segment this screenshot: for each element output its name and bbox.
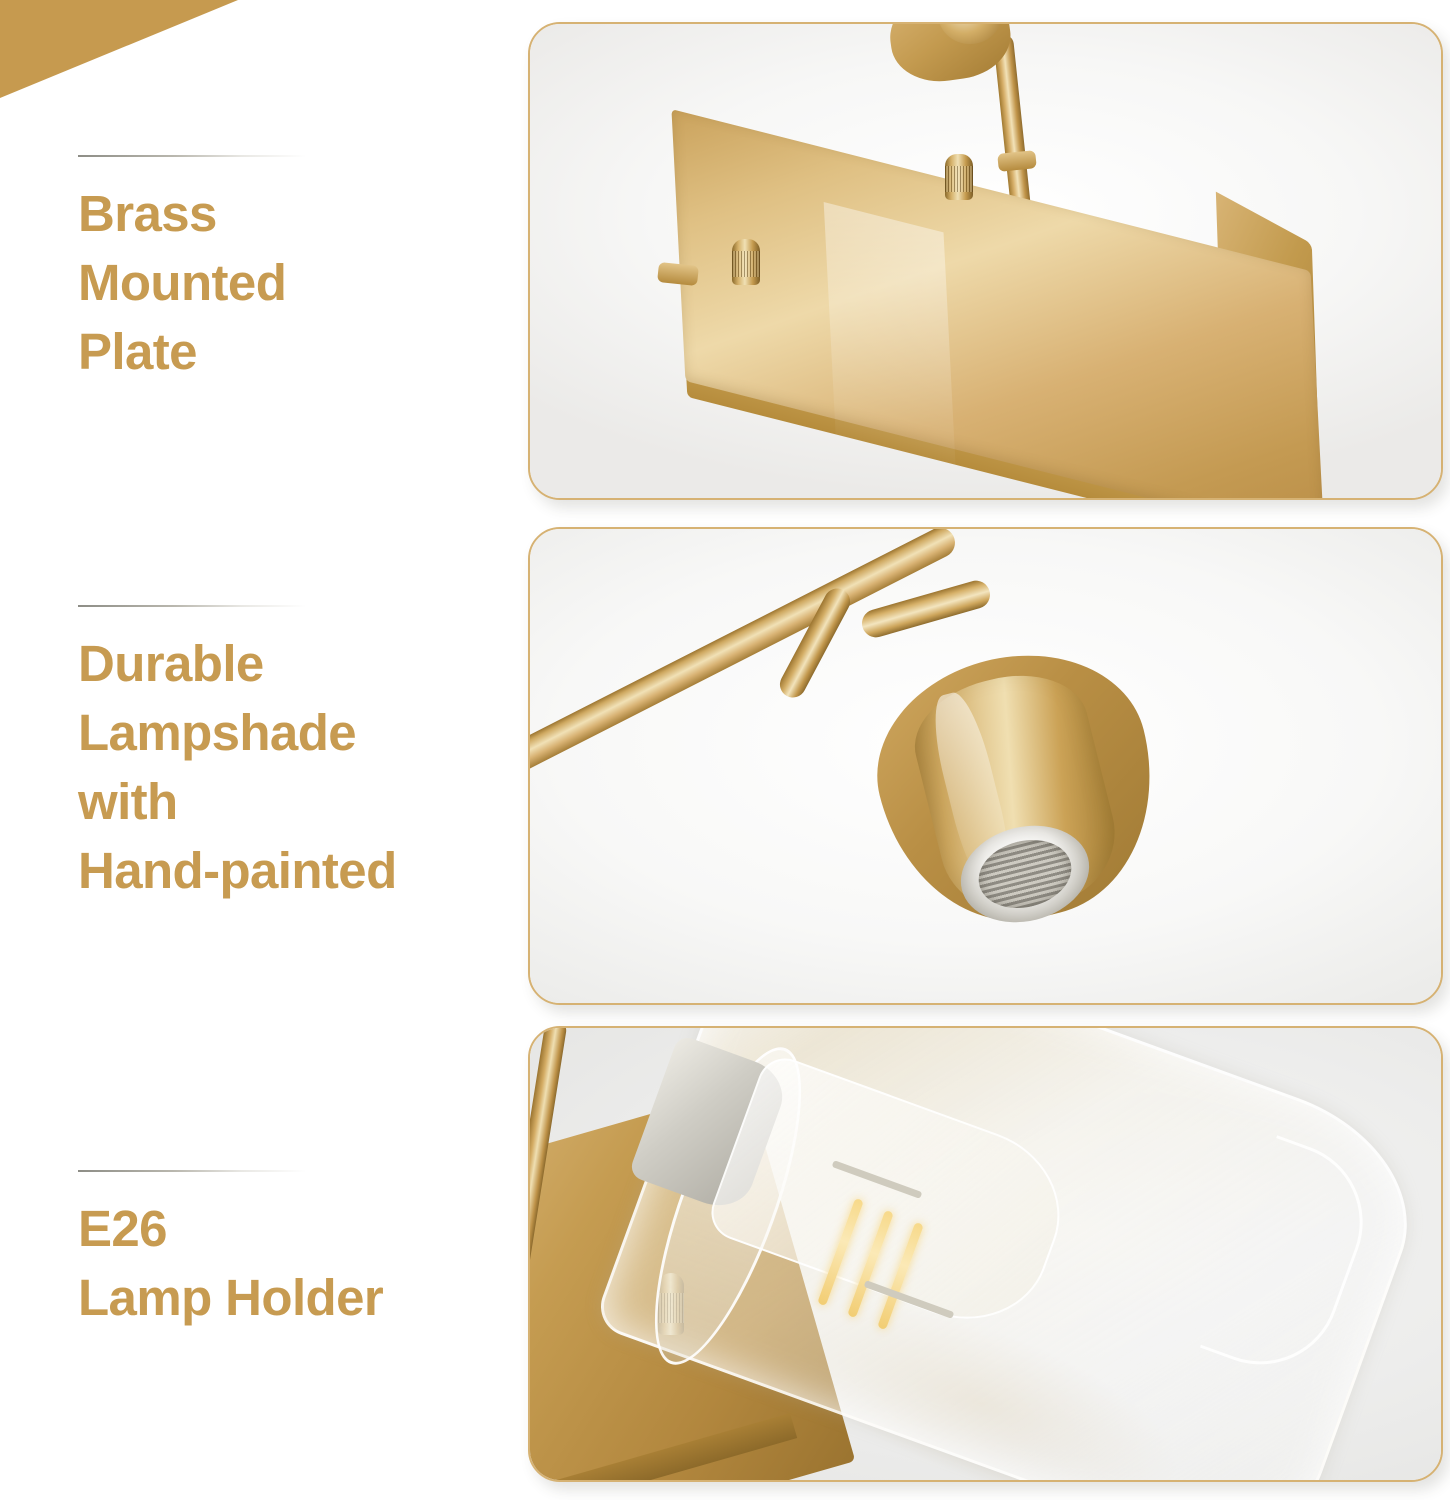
photo-card-durable-lampshade bbox=[528, 527, 1443, 1005]
knurled-thumbscrew-rear-illustration bbox=[945, 154, 973, 200]
photo-e26-lamp-holder bbox=[530, 1028, 1441, 1480]
photo-card-e26-lamp-holder bbox=[528, 1026, 1443, 1482]
feature-divider-rule bbox=[78, 1170, 306, 1172]
feature-block-durable-lampshade: Durable Lampshade with Hand-painted bbox=[78, 605, 498, 905]
brass-collar-left-illustration bbox=[657, 262, 699, 286]
photo-brass-mounted-plate bbox=[530, 24, 1441, 498]
feature-divider-rule bbox=[78, 155, 306, 157]
photo-card-brass-mounted-plate bbox=[528, 22, 1443, 500]
product-photo-stack bbox=[524, 0, 1450, 1500]
feature-text-column: Brass Mounted Plate Durable Lampshade wi… bbox=[0, 0, 520, 1500]
feature-title-brass-mounted-plate: Brass Mounted Plate bbox=[78, 179, 498, 386]
plate-gloss-highlight bbox=[824, 202, 957, 481]
photo-durable-lampshade bbox=[530, 529, 1441, 1003]
knurled-thumbscrew-front-illustration bbox=[732, 239, 760, 285]
feature-title-durable-lampshade: Durable Lampshade with Hand-painted bbox=[78, 629, 498, 905]
feature-block-brass-mounted-plate: Brass Mounted Plate bbox=[78, 155, 498, 386]
feature-title-e26-lamp-holder: E26 Lamp Holder bbox=[78, 1194, 498, 1332]
feature-block-e26-lamp-holder: E26 Lamp Holder bbox=[78, 1170, 498, 1332]
feature-divider-rule bbox=[78, 605, 306, 607]
